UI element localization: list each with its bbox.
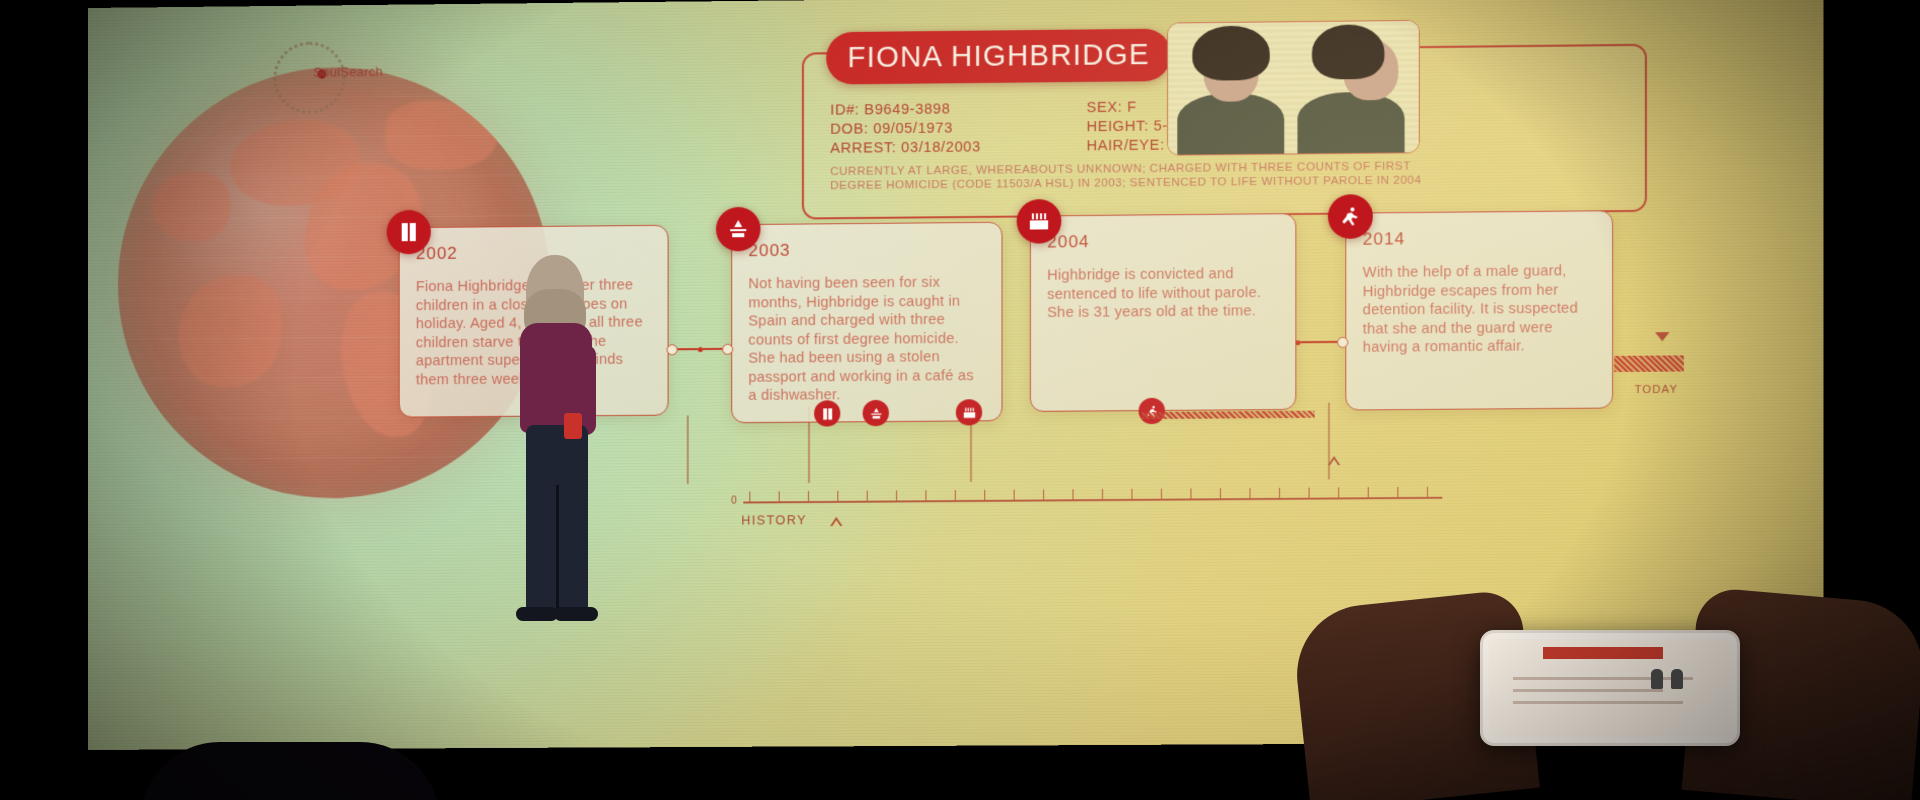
axis-zero-label: 0 [731,496,737,507]
card-text: Not having been seen for six months, Hig… [748,273,985,405]
axis-mid-marker-icon [1328,456,1340,465]
axis-tick [1397,487,1398,498]
axis-tick [837,491,838,502]
axis-tick [1131,489,1132,500]
mini-passport-stamp-icon[interactable] [863,400,889,426]
timeline-card-2014[interactable]: 2014 With the help of a male guard, High… [1345,210,1613,410]
axis-tick [1161,489,1162,500]
axis-tick [1073,489,1074,500]
mini-jail-cell-icon[interactable] [956,399,982,425]
mugshot-panel [1167,20,1420,156]
today-label: TODAY [1635,384,1678,396]
card-year: 2003 [748,239,985,261]
closet-doors-icon[interactable] [387,210,431,255]
card-year: 2014 [1363,227,1596,249]
mugshot-front [1168,22,1293,154]
card-year: 2004 [1047,230,1279,252]
timeline-range-bar [1142,411,1315,419]
axis-tick [867,491,868,502]
passport-stamp-icon[interactable] [716,207,760,252]
mini-closet-doors-icon[interactable] [814,400,840,426]
jail-cell-icon[interactable] [1017,199,1062,244]
subject-nameplate: FIONA HIGHBRIDGE [826,29,1171,85]
axis-tick [1427,487,1428,498]
scene: SoulSearch FIONA HIGHBRIDGE ID#: B9649-3… [0,0,1920,800]
card-text: Highbridge is convicted and sentenced to… [1047,265,1279,323]
subject-summary: CURRENTLY AT LARGE, WHEREABOUTS UNKNOWN;… [830,159,1450,193]
audience-silhouette [140,742,440,800]
field-dob: DOB: 09/05/1973 [830,120,981,138]
axis-tick [1279,488,1280,499]
presenter-silhouette [508,255,604,630]
axis-tick [925,490,926,501]
axis-tick [1043,489,1044,500]
timeline-card-2003[interactable]: 2003 Not having been seen for six months… [731,222,1002,423]
timeline-card-2004[interactable]: 2004 Highbridge is convicted and sentenc… [1030,213,1296,412]
history-label: HISTORY [741,513,807,528]
axis-ticks [731,479,1442,484]
today-marker-icon [1655,332,1669,341]
axis-tick [1014,490,1015,501]
timeline-axis[interactable]: 0 HISTORY [731,479,1442,524]
timeline-connector-2 [1295,336,1348,349]
axis-tick [984,490,985,501]
axis-tick [1102,489,1103,500]
today-range-bar [1614,355,1684,372]
history-marker-icon [830,517,842,526]
axis-tick [808,491,809,502]
field-arrest: ARREST: 03/18/2003 [830,139,981,157]
app-logo: SoulSearch [273,33,393,120]
card-text: With the help of a male guard, Highbridg… [1363,262,1596,357]
axis-tick [749,491,750,502]
app-logo-label: SoulSearch [313,64,382,80]
subject-name: FIONA HIGHBRIDGE [847,38,1149,74]
axis-tick [955,490,956,501]
axis-tick [1338,487,1339,498]
axis-tick [1190,488,1191,499]
mugshot-profile [1293,21,1418,154]
axis-tick [896,490,897,501]
running-person-icon[interactable] [1328,194,1373,239]
axis-tick [1368,487,1369,498]
axis-tick [1220,488,1221,499]
axis-tick [1249,488,1250,499]
timeline-connector-1 [667,343,734,356]
axis-tick [779,491,780,502]
phone-screen[interactable] [1480,630,1740,746]
fields-left-column: ID#: B9649-3898 DOB: 09/05/1973 ARREST: … [830,101,981,157]
axis-tick [1309,488,1310,499]
field-id: ID#: B9649-3898 [830,101,981,119]
